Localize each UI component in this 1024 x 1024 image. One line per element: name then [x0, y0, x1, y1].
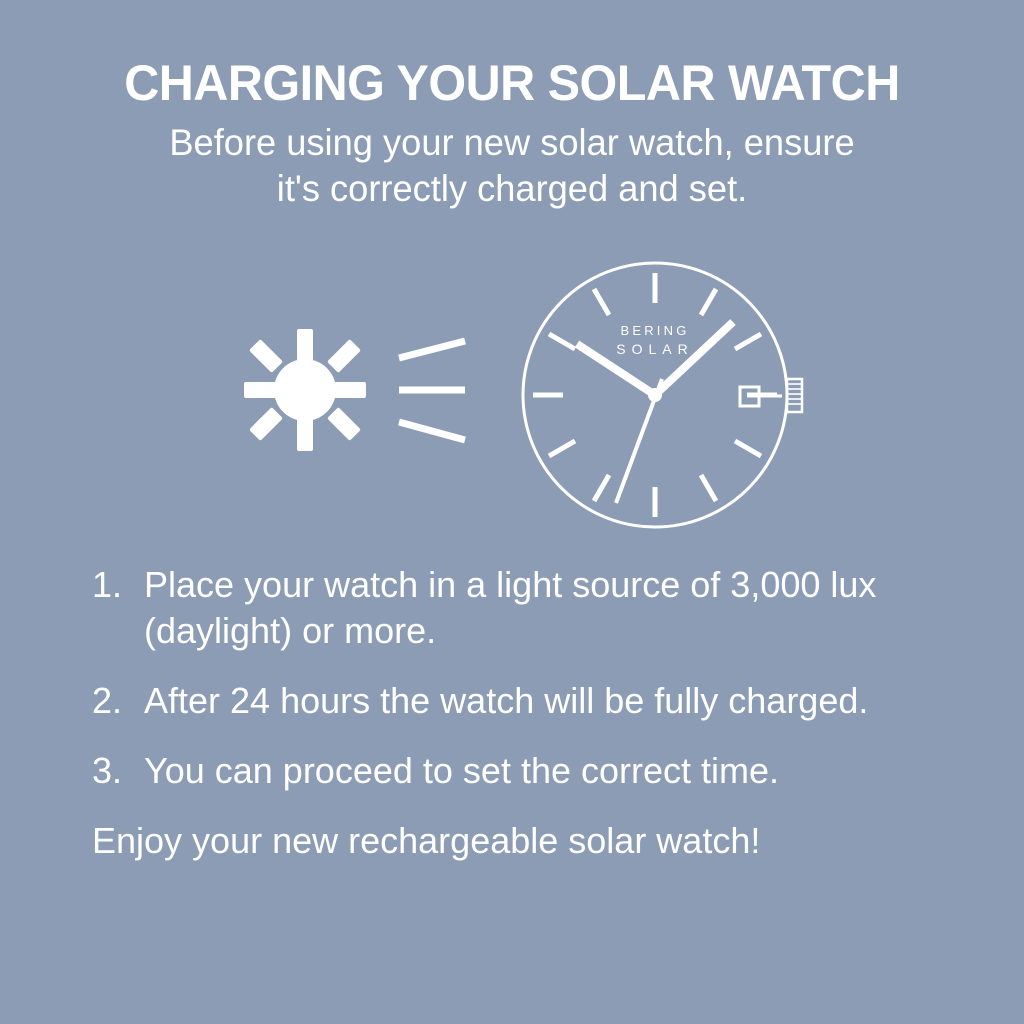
sun-ray-nw [249, 339, 283, 373]
sun-ray-sw [249, 407, 283, 441]
hour-marker-1 [701, 289, 716, 315]
watch-model-text: SOLAR [616, 341, 693, 357]
sun-ray-s [297, 419, 313, 451]
list-item: 3. You can proceed to set the correct ti… [92, 748, 948, 794]
hour-marker-11 [594, 289, 609, 315]
light-beam-upper [399, 341, 465, 358]
hands-pivot [648, 388, 662, 402]
page-root: CHARGING YOUR SOLAR WATCH Before using y… [0, 0, 1024, 1024]
hour-marker-4 [735, 441, 761, 456]
sun-ray-w [244, 382, 276, 398]
sun-ray-ne [327, 339, 361, 373]
page-subtitle: Before using your new solar watch, ensur… [73, 120, 951, 212]
step-text: Place your watch in a light source of 3,… [144, 562, 948, 654]
closing-message: Enjoy your new rechargeable solar watch! [92, 818, 948, 864]
hour-marker-2 [735, 334, 761, 349]
watch-crown [787, 379, 802, 412]
page-title: CHARGING YOUR SOLAR WATCH [77, 56, 946, 110]
sun-icon [244, 329, 366, 451]
step-number: 3. [92, 748, 144, 794]
list-item: 2. After 24 hours the watch will be full… [92, 678, 948, 724]
solar-watch-icon: BERING SOLAR [523, 263, 802, 527]
sun-ray-n [297, 329, 313, 361]
hour-marker-7 [594, 475, 609, 501]
light-beams-icon [399, 341, 465, 440]
sun-disc [274, 359, 336, 421]
illustration-block: BERING SOLAR [0, 236, 1024, 556]
subtitle-line-1: Before using your new solar watch, ensur… [169, 122, 854, 163]
solar-cell-indicator [740, 387, 782, 406]
sun-ray-e [334, 382, 366, 398]
hour-marker-8 [549, 441, 575, 456]
illustration-svg: BERING SOLAR [0, 236, 1024, 556]
watch-brand-text: BERING [620, 323, 689, 338]
list-item: 1. Place your watch in a light source of… [92, 562, 948, 654]
hour-marker-5 [701, 475, 716, 501]
header-block: CHARGING YOUR SOLAR WATCH Before using y… [64, 56, 960, 212]
instructions-list: 1. Place your watch in a light source of… [92, 562, 948, 864]
crown-ribs [788, 384, 801, 404]
step-text: You can proceed to set the correct time. [144, 748, 948, 794]
subtitle-line-2: it's correctly charged and set. [277, 168, 747, 209]
step-number: 2. [92, 678, 144, 724]
hour-marker-10 [549, 334, 575, 349]
light-beam-lower [399, 422, 465, 440]
sun-ray-se [327, 407, 361, 441]
step-number: 1. [92, 562, 144, 608]
step-text: After 24 hours the watch will be fully c… [144, 678, 948, 724]
